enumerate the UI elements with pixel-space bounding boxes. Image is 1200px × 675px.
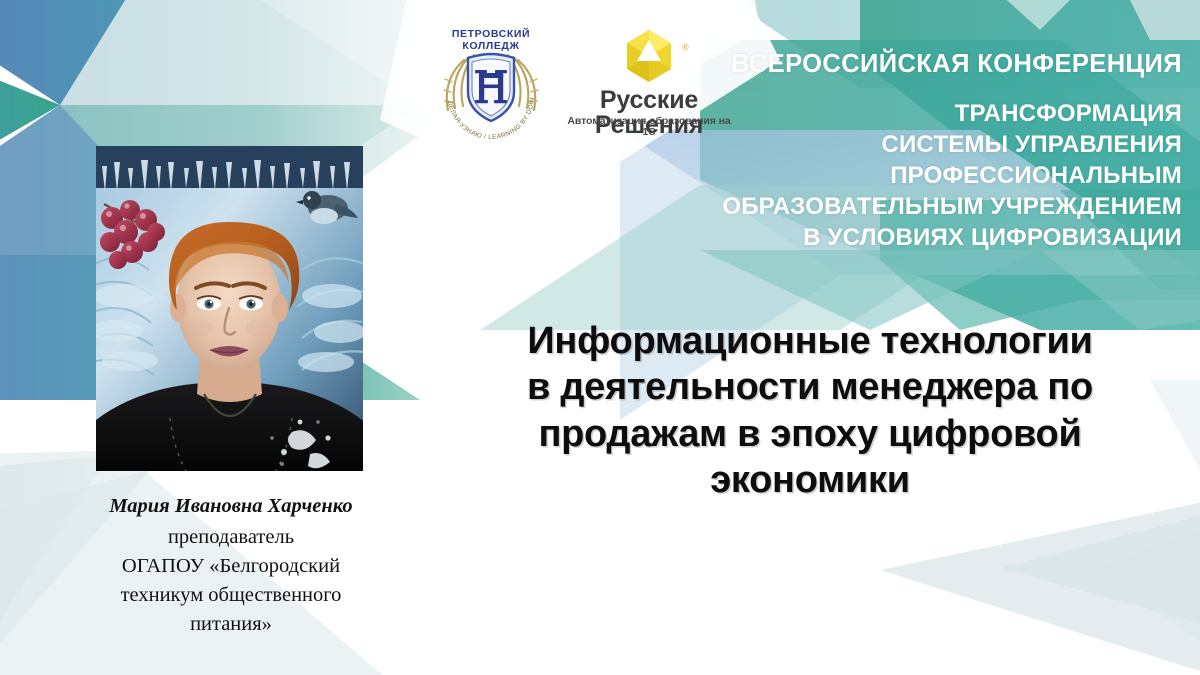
petrovsky-college-logo: ПЕТРОВСКИЙ КОЛЛЕДЖ: [430, 24, 552, 142]
conference-heading-line-1: ТРАНСФОРМАЦИЯ: [712, 102, 1182, 126]
speaker-organization-line-1: ОГАПОУ «Белгородский: [36, 552, 426, 581]
logo-row: ПЕТРОВСКИЙ КОЛЛЕДЖ: [430, 16, 750, 136]
svg-text:ПЕТРОВСКИЙ: ПЕТРОВСКИЙ: [452, 27, 530, 40]
portrait-image: [96, 146, 363, 471]
presentation-title-line-1: Информационные технологии: [430, 318, 1190, 364]
conference-heading-line-5: В УСЛОВИЯХ ЦИФРОВИЗАЦИИ: [712, 226, 1182, 250]
conference-heading: ВСЕРОССИЙСКАЯ КОНФЕРЕНЦИЯ ТРАНСФОРМАЦИЯ …: [712, 52, 1182, 257]
presentation-title: Информационные технологии в деятельности…: [430, 318, 1190, 503]
presentation-title-line-3: продажам в эпоху цифровой: [430, 411, 1190, 457]
conference-heading-line-3: ПРОФЕССИОНАЛЬНЫМ: [712, 164, 1182, 188]
speaker-organization-line-2: техникум общественного: [36, 581, 426, 610]
speaker-portrait-photo: [96, 146, 363, 471]
svg-text:®: ®: [682, 42, 689, 52]
speaker-caption: Мария Ивановна Харченко преподаватель ОГ…: [36, 492, 426, 640]
presentation-slide: ПЕТРОВСКИЙ КОЛЛЕДЖ: [0, 0, 1200, 675]
conference-heading-line-2: СИСТЕМЫ УПРАВЛЕНИЯ: [712, 133, 1182, 157]
svg-text:КОЛЛЕДЖ: КОЛЛЕДЖ: [462, 40, 519, 52]
conference-heading-line-4: ОБРАЗОВАТЕЛЬНЫМ УЧРЕЖДЕНИЕМ: [712, 195, 1182, 219]
conference-heading-main: ВСЕРОССИЙСКАЯ КОНФЕРЕНЦИЯ: [712, 52, 1182, 78]
speaker-role: преподаватель: [36, 523, 426, 552]
speaker-name: Мария Ивановна Харченко: [36, 492, 426, 521]
presentation-title-line-4: экономики: [430, 457, 1190, 503]
speaker-organization-line-3: питания»: [36, 610, 426, 639]
presentation-title-line-2: в деятельности менеджера по: [430, 364, 1190, 410]
